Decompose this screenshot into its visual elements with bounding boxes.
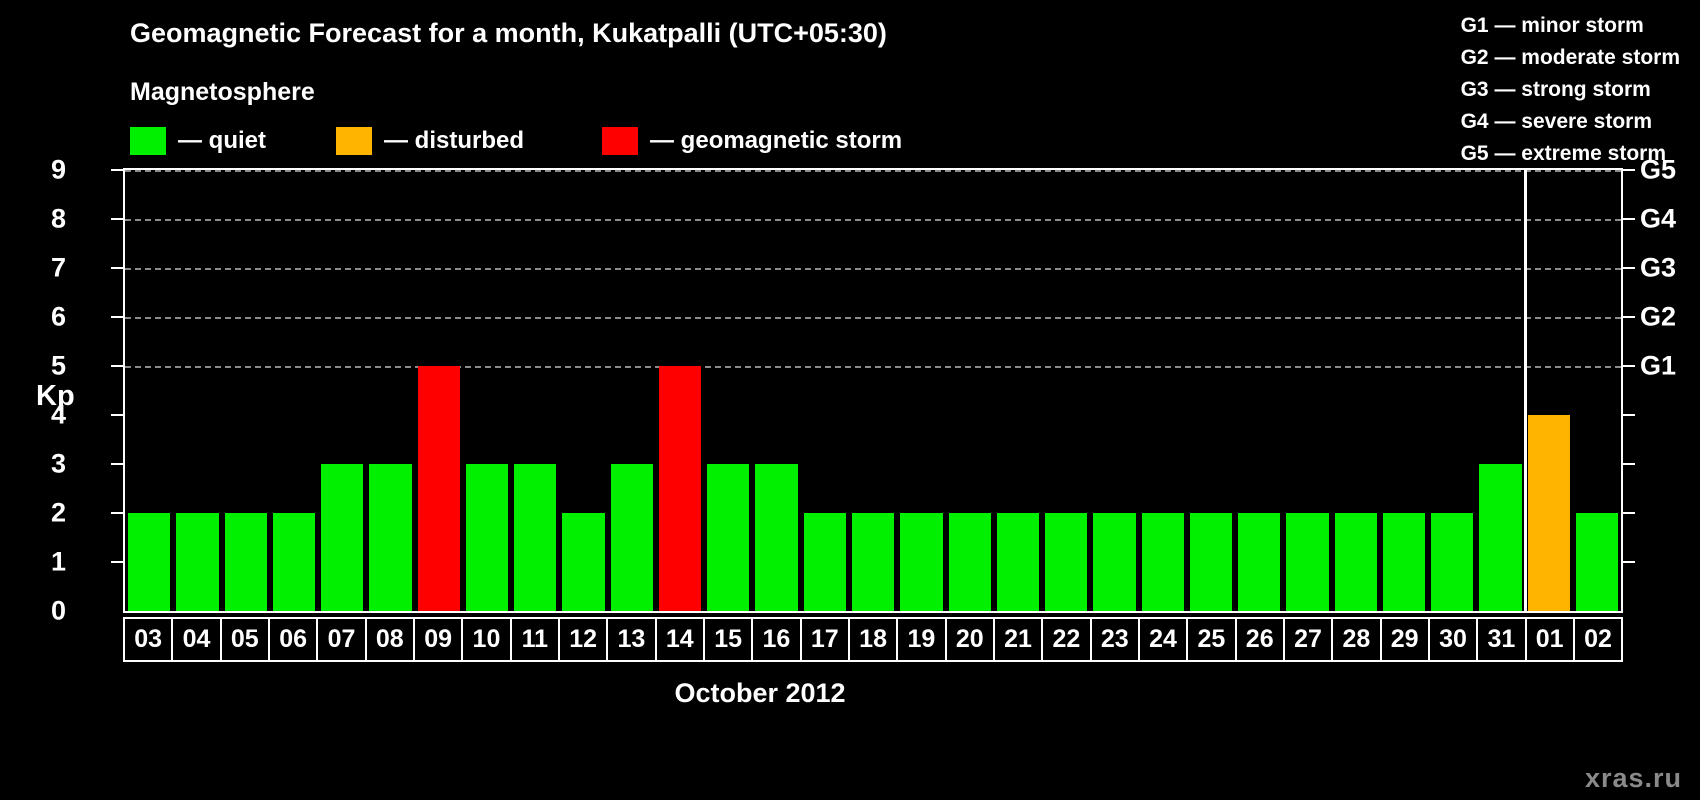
date-label-13[interactable]: 13 bbox=[608, 619, 656, 660]
y-tick-mark-5 bbox=[111, 365, 123, 367]
y-tick-mark-7 bbox=[111, 267, 123, 269]
date-label-04[interactable]: 04 bbox=[173, 619, 221, 660]
bar-31[interactable] bbox=[1479, 464, 1521, 611]
date-label-09[interactable]: 09 bbox=[415, 619, 463, 660]
date-label-28[interactable]: 28 bbox=[1333, 619, 1381, 660]
g-scale-row-4: G4 — severe storm bbox=[1461, 106, 1680, 138]
g-axis-minor-mark-3 bbox=[1623, 463, 1635, 465]
g-axis-minor-mark-1 bbox=[1623, 561, 1635, 563]
bar-18[interactable] bbox=[852, 513, 894, 611]
g-scale-legend: G1 — minor stormG2 — moderate stormG3 — … bbox=[1461, 10, 1680, 170]
bar-cell-01[interactable] bbox=[1525, 170, 1573, 611]
date-label-06[interactable]: 06 bbox=[270, 619, 318, 660]
bar-cell-31[interactable] bbox=[1476, 170, 1524, 611]
bar-cell-29[interactable] bbox=[1380, 170, 1428, 611]
g-tick-mark-G3 bbox=[1623, 267, 1635, 269]
y-tick-label-9: 9 bbox=[6, 155, 66, 186]
y-tick-mark-6 bbox=[111, 316, 123, 318]
date-label-24[interactable]: 24 bbox=[1140, 619, 1188, 660]
chart-page: Geomagnetic Forecast for a month, Kukatp… bbox=[0, 0, 1700, 800]
bar-27[interactable] bbox=[1286, 513, 1328, 611]
bar-26[interactable] bbox=[1238, 513, 1280, 611]
bar-cell-13[interactable] bbox=[608, 170, 656, 611]
bar-24[interactable] bbox=[1142, 513, 1184, 611]
bar-10[interactable] bbox=[466, 464, 508, 611]
bar-19[interactable] bbox=[900, 513, 942, 611]
bar-cell-14[interactable] bbox=[656, 170, 704, 611]
date-label-23[interactable]: 23 bbox=[1092, 619, 1140, 660]
bar-cell-08[interactable] bbox=[366, 170, 414, 611]
bar-02[interactable] bbox=[1576, 513, 1618, 611]
bar-cell-06[interactable] bbox=[270, 170, 318, 611]
date-label-08[interactable]: 08 bbox=[367, 619, 415, 660]
g-axis-minor-mark-4 bbox=[1623, 414, 1635, 416]
bar-12[interactable] bbox=[562, 513, 604, 611]
g-tick-label-G2: G2 bbox=[1640, 302, 1700, 333]
g-tick-mark-G2 bbox=[1623, 316, 1635, 318]
bar-cell-17[interactable] bbox=[801, 170, 849, 611]
g-tick-mark-G4 bbox=[1623, 218, 1635, 220]
bar-15[interactable] bbox=[707, 464, 749, 611]
bar-06[interactable] bbox=[273, 513, 315, 611]
date-label-11[interactable]: 11 bbox=[512, 619, 560, 660]
date-label-16[interactable]: 16 bbox=[753, 619, 801, 660]
y-tick-label-5: 5 bbox=[6, 351, 66, 382]
bar-14[interactable] bbox=[659, 366, 701, 611]
plot-area bbox=[123, 168, 1623, 613]
y-tick-mark-2 bbox=[111, 512, 123, 514]
date-label-15[interactable]: 15 bbox=[705, 619, 753, 660]
bar-08[interactable] bbox=[369, 464, 411, 611]
bar-21[interactable] bbox=[997, 513, 1039, 611]
bar-cell-16[interactable] bbox=[752, 170, 800, 611]
date-label-21[interactable]: 21 bbox=[995, 619, 1043, 660]
y-tick-label-8: 8 bbox=[6, 204, 66, 235]
y-tick-label-0: 0 bbox=[6, 596, 66, 627]
g-tick-label-G3: G3 bbox=[1640, 253, 1700, 284]
chart-subtitle: Magnetosphere bbox=[130, 78, 315, 107]
y-tick-label-6: 6 bbox=[6, 302, 66, 333]
bar-29[interactable] bbox=[1383, 513, 1425, 611]
x-axis-label-text: October 2012 bbox=[674, 678, 845, 708]
bar-11[interactable] bbox=[514, 464, 556, 611]
x-axis-date-labels: 0304050607080910111213141516171819202122… bbox=[123, 617, 1623, 662]
date-label-12[interactable]: 12 bbox=[560, 619, 608, 660]
bar-09[interactable] bbox=[418, 366, 460, 611]
date-label-14[interactable]: 14 bbox=[657, 619, 705, 660]
y-tick-label-7: 7 bbox=[6, 253, 66, 284]
bar-cell-21[interactable] bbox=[994, 170, 1042, 611]
y-tick-label-4: 4 bbox=[6, 400, 66, 431]
bar-cell-26[interactable] bbox=[1235, 170, 1283, 611]
bar-cell-24[interactable] bbox=[1139, 170, 1187, 611]
bar-cell-02[interactable] bbox=[1573, 170, 1621, 611]
g-scale-row-1: G1 — minor storm bbox=[1461, 10, 1680, 42]
bar-cell-22[interactable] bbox=[1042, 170, 1090, 611]
bar-04[interactable] bbox=[176, 513, 218, 611]
date-label-18[interactable]: 18 bbox=[850, 619, 898, 660]
g-tick-label-G5: G5 bbox=[1640, 155, 1700, 186]
bar-16[interactable] bbox=[755, 464, 797, 611]
bar-cell-28[interactable] bbox=[1332, 170, 1380, 611]
date-label-07[interactable]: 07 bbox=[318, 619, 366, 660]
y-tick-mark-4 bbox=[111, 414, 123, 416]
legend-label-disturbed: — disturbed bbox=[384, 127, 524, 155]
bar-22[interactable] bbox=[1045, 513, 1087, 611]
date-label-19[interactable]: 19 bbox=[898, 619, 946, 660]
legend-swatch-disturbed bbox=[336, 127, 372, 155]
bar-30[interactable] bbox=[1431, 513, 1473, 611]
bar-cell-30[interactable] bbox=[1428, 170, 1476, 611]
bar-cell-15[interactable] bbox=[704, 170, 752, 611]
y-tick-label-1: 1 bbox=[6, 547, 66, 578]
legend-swatch-storm bbox=[602, 127, 638, 155]
g-tick-label-G1: G1 bbox=[1640, 351, 1700, 382]
bar-cell-04[interactable] bbox=[173, 170, 221, 611]
bar-20[interactable] bbox=[949, 513, 991, 611]
date-label-27[interactable]: 27 bbox=[1285, 619, 1333, 660]
bar-28[interactable] bbox=[1335, 513, 1377, 611]
date-label-26[interactable]: 26 bbox=[1237, 619, 1285, 660]
date-label-29[interactable]: 29 bbox=[1382, 619, 1430, 660]
date-label-25[interactable]: 25 bbox=[1188, 619, 1236, 660]
y-tick-mark-1 bbox=[111, 561, 123, 563]
watermark: xras.ru bbox=[1585, 763, 1682, 794]
plot-frame bbox=[123, 168, 1623, 613]
bar-cell-05[interactable] bbox=[222, 170, 270, 611]
date-label-30[interactable]: 30 bbox=[1430, 619, 1478, 660]
bar-cell-25[interactable] bbox=[1187, 170, 1235, 611]
x-axis-label: October 2012 bbox=[0, 678, 1700, 709]
y-tick-label-3: 3 bbox=[6, 449, 66, 480]
bar-cell-12[interactable] bbox=[559, 170, 607, 611]
g-tick-label-G4: G4 bbox=[1640, 204, 1700, 235]
bar-07[interactable] bbox=[321, 464, 363, 611]
legend-label-storm: — geomagnetic storm bbox=[650, 127, 902, 155]
bar-cell-11[interactable] bbox=[511, 170, 559, 611]
bar-25[interactable] bbox=[1190, 513, 1232, 611]
g-scale-row-2: G2 — moderate storm bbox=[1461, 42, 1680, 74]
g-axis-minor-mark-2 bbox=[1623, 512, 1635, 514]
date-label-10[interactable]: 10 bbox=[463, 619, 511, 660]
bar-cell-27[interactable] bbox=[1283, 170, 1331, 611]
y-tick-mark-8 bbox=[111, 218, 123, 220]
legend-item-quiet: — quiet bbox=[130, 127, 266, 155]
date-label-05[interactable]: 05 bbox=[222, 619, 270, 660]
date-label-22[interactable]: 22 bbox=[1043, 619, 1091, 660]
date-label-03[interactable]: 03 bbox=[125, 619, 173, 660]
page-title: Geomagnetic Forecast for a month, Kukatp… bbox=[130, 18, 887, 49]
y-tick-mark-9 bbox=[111, 169, 123, 171]
bar-23[interactable] bbox=[1093, 513, 1135, 611]
bar-13[interactable] bbox=[611, 464, 653, 611]
bar-05[interactable] bbox=[225, 513, 267, 611]
bar-cell-03[interactable] bbox=[125, 170, 173, 611]
bar-cell-23[interactable] bbox=[1090, 170, 1138, 611]
bar-cell-20[interactable] bbox=[946, 170, 994, 611]
bar-cell-18[interactable] bbox=[849, 170, 897, 611]
y-tick-mark-3 bbox=[111, 463, 123, 465]
date-label-02[interactable]: 02 bbox=[1575, 619, 1621, 660]
legend-swatch-quiet bbox=[130, 127, 166, 155]
bar-17[interactable] bbox=[804, 513, 846, 611]
bar-cell-19[interactable] bbox=[897, 170, 945, 611]
bar-01[interactable] bbox=[1528, 415, 1570, 611]
bar-series bbox=[125, 170, 1621, 611]
bar-03[interactable] bbox=[128, 513, 170, 611]
month-boundary-line bbox=[1524, 170, 1527, 611]
date-label-31[interactable]: 31 bbox=[1478, 619, 1526, 660]
legend-label-quiet: — quiet bbox=[178, 127, 266, 155]
g-scale-row-3: G3 — strong storm bbox=[1461, 74, 1680, 106]
legend-item-storm: — geomagnetic storm bbox=[602, 127, 902, 155]
legend: — quiet— disturbed— geomagnetic storm bbox=[130, 127, 902, 155]
bar-cell-07[interactable] bbox=[318, 170, 366, 611]
y-tick-label-2: 2 bbox=[6, 498, 66, 529]
g-tick-mark-G1 bbox=[1623, 365, 1635, 367]
g-tick-mark-G5 bbox=[1623, 169, 1635, 171]
bar-cell-10[interactable] bbox=[463, 170, 511, 611]
legend-item-disturbed: — disturbed bbox=[336, 127, 524, 155]
date-label-01[interactable]: 01 bbox=[1527, 619, 1575, 660]
date-label-20[interactable]: 20 bbox=[947, 619, 995, 660]
bar-cell-09[interactable] bbox=[415, 170, 463, 611]
date-label-17[interactable]: 17 bbox=[802, 619, 850, 660]
